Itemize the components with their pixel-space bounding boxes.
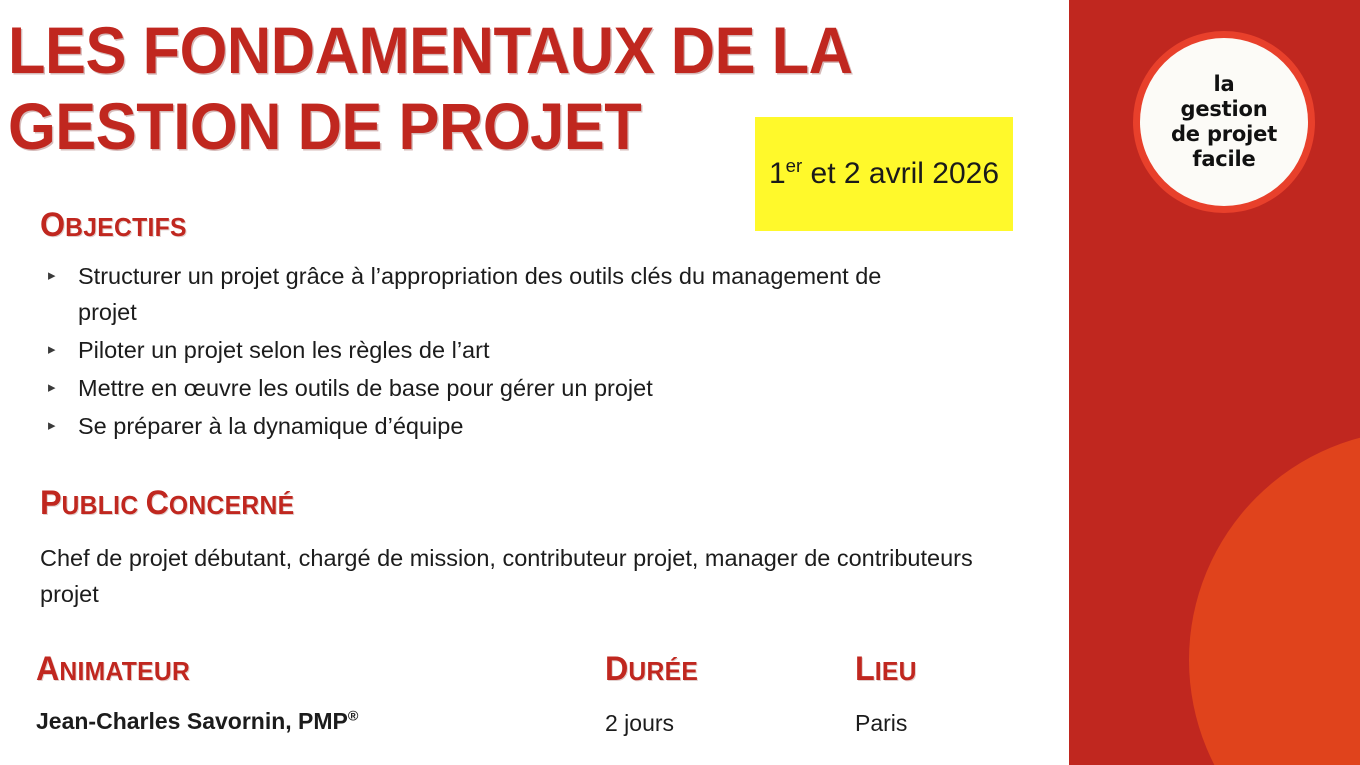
date-badge: 1er et 2 avril 2026 [755, 117, 1013, 231]
list-item-text: Mettre en œuvre les outils de base pour … [78, 375, 653, 401]
section-heading-animateur: Animateur [36, 650, 190, 689]
heading-lieu-rest: ieu [875, 656, 917, 686]
title-line-1: Les fondamentaux de la [8, 12, 892, 88]
slide-canvas: Les fondamentaux de la Gestion de projet… [0, 0, 1360, 765]
list-item: ▸Mettre en œuvre les outils de base pour… [42, 370, 892, 406]
objectifs-list: ▸Structurer un projet grâce à l’appropri… [42, 258, 892, 446]
date-badge-text: 1er et 2 avril 2026 [769, 154, 999, 194]
animateur-name: Jean-Charles Savornin, PMP® [36, 706, 358, 736]
lieu-value: Paris [855, 708, 907, 738]
heading-animateur-rest: nimateur [59, 656, 190, 686]
section-heading-objectifs: Objectifs [40, 206, 187, 245]
heading-animateur-initial: A [36, 650, 59, 688]
date-day-suffix: er [786, 155, 803, 176]
section-heading-lieu: Lieu [855, 650, 917, 689]
heading-objectifs-initial: O [40, 206, 65, 244]
public-concerne-text: Chef de projet débutant, chargé de missi… [40, 540, 980, 612]
heading-objectifs-rest: bjectifs [65, 212, 187, 242]
list-item: ▸Structurer un projet grâce à l’appropri… [42, 258, 892, 330]
logo-inner-circle: la gestion de projet facile [1140, 38, 1308, 206]
list-item-text: Piloter un projet selon les règles de l’… [78, 337, 489, 363]
logo-text: la gestion de projet facile [1171, 72, 1277, 172]
animateur-name-text: Jean-Charles Savornin, PMP [36, 708, 348, 734]
list-item-text: Se préparer à la dynamique d’équipe [78, 413, 463, 439]
heading-public-initial: P [40, 484, 62, 522]
registered-trademark-icon: ® [348, 708, 359, 724]
bullet-triangle-icon: ▸ [48, 370, 56, 406]
decorative-circle-accent [1189, 430, 1360, 765]
heading-lieu-initial: L [855, 650, 875, 688]
date-day-number: 1 [769, 157, 786, 190]
bullet-triangle-icon: ▸ [48, 258, 56, 294]
heading-concerne-rest: oncerné [169, 490, 295, 520]
date-rest: et 2 avril 2026 [802, 157, 999, 190]
heading-concerne-initial: C [146, 484, 169, 522]
duree-value: 2 jours [605, 708, 674, 738]
bullet-triangle-icon: ▸ [48, 408, 56, 444]
section-heading-duree: Durée [605, 650, 698, 689]
heading-duree-rest: urée [628, 656, 698, 686]
content-area: Les fondamentaux de la Gestion de projet… [0, 0, 1069, 765]
heading-public-rest: ublic [62, 490, 146, 520]
bullet-triangle-icon: ▸ [48, 332, 56, 368]
list-item: ▸Se préparer à la dynamique d’équipe [42, 408, 892, 444]
logo: la gestion de projet facile [1133, 31, 1315, 213]
brand-panel: la gestion de projet facile [1069, 0, 1360, 765]
list-item-text: Structurer un projet grâce à l’appropria… [78, 263, 881, 325]
section-heading-public-concerne: Public Concerné [40, 484, 294, 523]
heading-duree-initial: D [605, 650, 628, 688]
list-item: ▸Piloter un projet selon les règles de l… [42, 332, 892, 368]
